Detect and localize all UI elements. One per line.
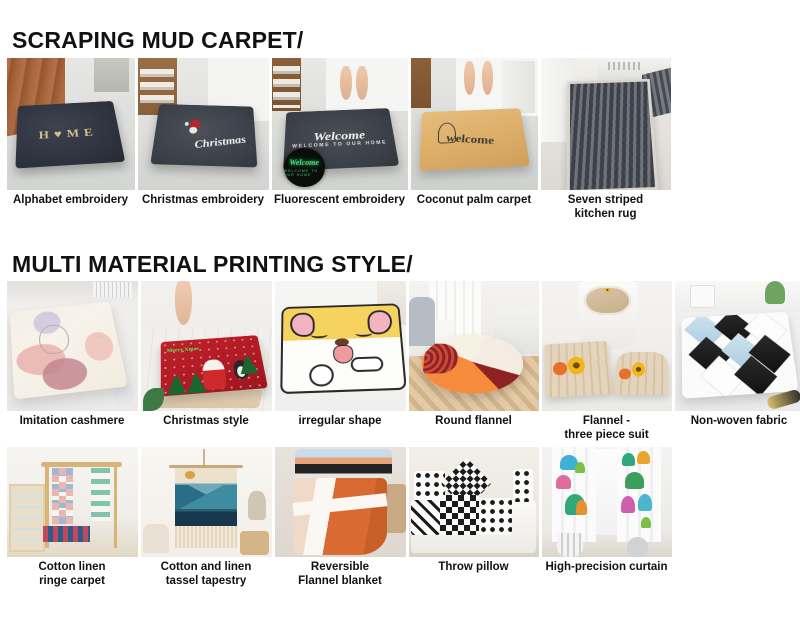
product-image-round-flannel[interactable] [409,281,539,411]
product-caption-cotton-and-linen-tassel-tapestry: Cotton and linen tassel tapestry [161,561,252,588]
product-image-cotton-linen-ringe-carpet[interactable] [7,447,138,557]
product-row-multi-b: Cotton linen ringe carpet Cotton a [5,447,673,588]
product-row-multi-a: Imitation cashmere Merry Xmas [5,281,800,442]
product-card-high-precision-curtain[interactable]: High-precision curtain [540,447,673,588]
product-card-seven-striped-kitchen-rug[interactable]: Seven striped kitchen rug [539,58,672,221]
product-image-imitation-cashmere[interactable] [7,281,138,411]
product-image-cotton-and-linen-tassel-tapestry[interactable] [141,447,272,557]
product-image-reversible-flannel-blanket[interactable] [275,447,406,557]
product-caption-round-flannel: Round flannel [435,415,512,429]
product-card-cotton-linen-ringe-carpet[interactable]: Cotton linen ringe carpet [5,447,139,588]
mat-text-home: H♥ME [16,124,120,143]
catalog-page: SCRAPING MUD CARPET/ H♥ME Alphabet embro… [0,0,800,623]
product-image-fluorescent-embroidery[interactable]: Welcome WELCOME TO OUR HOME Welcome WELC… [272,58,408,190]
glow-text-welcome: Welcome [289,158,319,167]
product-card-cotton-and-linen-tassel-tapestry[interactable]: Cotton and linen tassel tapestry [139,447,273,588]
product-card-fluorescent-embroidery[interactable]: Welcome WELCOME TO OUR HOME Welcome WELC… [270,58,409,221]
product-image-alphabet-embroidery[interactable]: H♥ME [7,58,135,190]
product-image-seven-striped-kitchen-rug[interactable] [541,58,671,190]
product-card-flannel-three-piece-suit[interactable]: Flannel - three piece suit [540,281,673,442]
mat-text-coconut-welcome: welcome [445,131,519,149]
product-caption-christmas-style: Christmas style [163,415,249,429]
product-caption-high-precision-curtain: High-precision curtain [545,561,667,575]
product-caption-irregular-shape: irregular shape [298,415,381,429]
product-caption-flannel-three-piece-suit: Flannel - three piece suit [564,415,648,442]
product-card-round-flannel[interactable]: Round flannel [407,281,540,442]
product-caption-throw-pillow: Throw pillow [438,561,508,575]
product-image-christmas-style[interactable]: Merry Xmas [141,281,272,411]
product-card-alphabet-embroidery[interactable]: H♥ME Alphabet embroidery [5,58,136,221]
product-card-christmas-style[interactable]: Merry Xmas Christmas style [139,281,273,442]
product-caption-seven-striped-kitchen-rug: Seven striped kitchen rug [568,194,643,221]
mat-text-christmas: Christmas [193,132,252,151]
product-image-throw-pillow[interactable] [409,447,539,557]
product-caption-christmas-embroidery: Christmas embroidery [142,194,264,208]
product-image-flannel-three-piece-suit[interactable] [542,281,672,411]
product-card-reversible-flannel-blanket[interactable]: Reversible Flannel blanket [273,447,407,588]
product-card-throw-pillow[interactable]: Throw pillow [407,447,540,588]
section-title-scraping-mud-carpet: SCRAPING MUD CARPET/ [12,29,304,52]
glow-subtext-welcome: WELCOME TO OUR HOME [284,169,325,177]
product-image-coconut-palm-carpet[interactable]: welcome [411,58,538,190]
product-card-christmas-embroidery[interactable]: Christmas Christmas embroidery [136,58,270,221]
section-title-multi-material-printing-style: MULTI MATERIAL PRINTING STYLE/ [12,253,413,276]
product-caption-alphabet-embroidery: Alphabet embroidery [13,194,128,208]
product-caption-imitation-cashmere: Imitation cashmere [20,415,125,429]
product-image-irregular-shape[interactable] [275,281,406,411]
product-caption-fluorescent-embroidery: Fluorescent embroidery [274,194,405,208]
product-caption-reversible-flannel-blanket: Reversible Flannel blanket [298,561,382,588]
product-card-imitation-cashmere[interactable]: Imitation cashmere [5,281,139,442]
product-card-non-woven-fabric[interactable]: Non-woven fabric [673,281,800,442]
product-row-scraping: H♥ME Alphabet embroidery [5,58,672,221]
product-image-non-woven-fabric[interactable] [675,281,800,411]
product-image-high-precision-curtain[interactable] [542,447,672,557]
product-caption-coconut-palm-carpet: Coconut palm carpet [417,194,531,208]
product-caption-non-woven-fabric: Non-woven fabric [691,415,787,429]
product-card-coconut-palm-carpet[interactable]: welcome Coconut palm carpet [409,58,539,221]
product-caption-cotton-linen-ringe-carpet: Cotton linen ringe carpet [38,561,105,588]
product-card-irregular-shape[interactable]: irregular shape [273,281,407,442]
glow-inset-welcome: Welcome WELCOME TO OUR HOME [284,148,325,188]
product-image-christmas-embroidery[interactable]: Christmas [138,58,269,190]
